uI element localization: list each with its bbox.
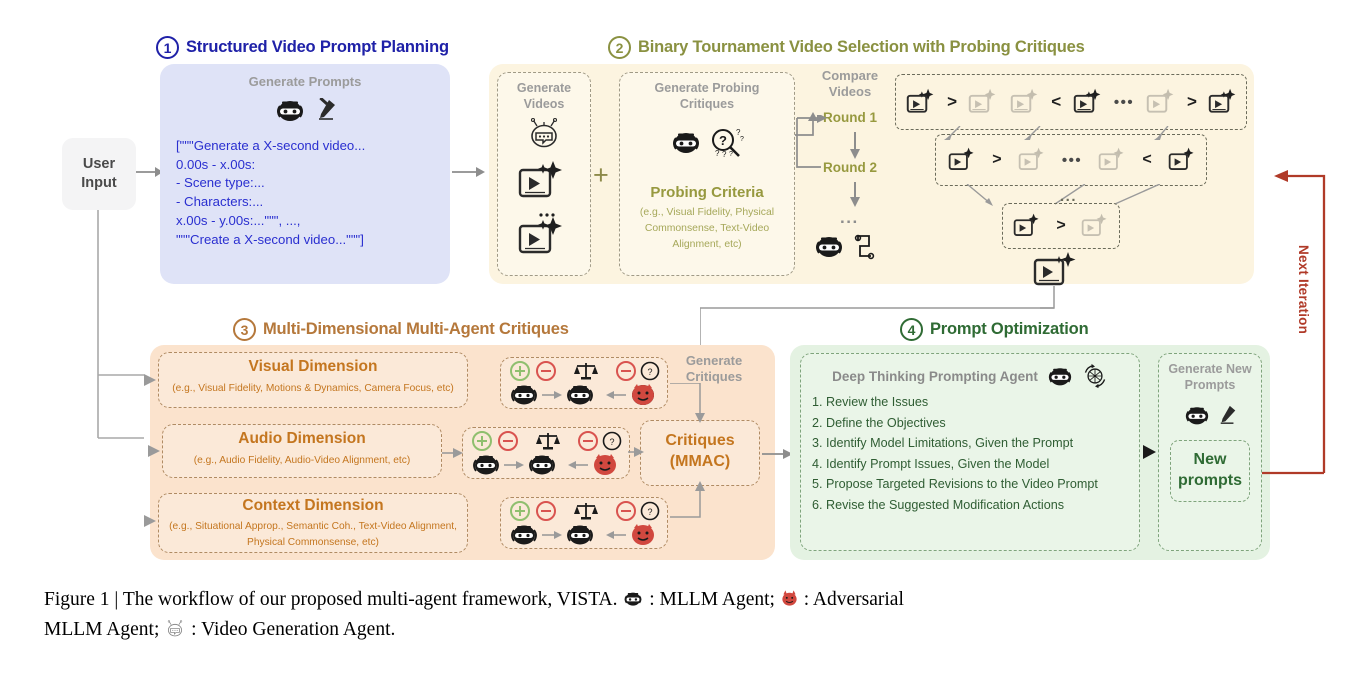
section-2-number: 2 [608,36,631,59]
new-prompts-line1: New [1170,450,1250,471]
prompt-text: ["""Generate a X-second video... 0.00s -… [176,137,438,249]
section-2-title: Binary Tournament Video Selection with P… [638,38,1085,57]
pencil-icon [316,98,338,122]
arrow-round1-to-round2 [846,132,864,160]
audio-dimension-title: Audio Dimension [162,430,442,448]
bracket-arrows-r1-r2 [920,126,1220,142]
compare-gt: > [1187,92,1197,112]
next-iteration-bottom [1262,468,1332,482]
round-loopback-connector [795,115,829,175]
video-clip-icon [1013,212,1041,240]
video-clip-icon [517,210,571,256]
generate-videos-label: Generate Videos [497,80,591,112]
video-clip-icon-faded [1098,146,1126,174]
video-clip-icon [1168,146,1196,174]
section-2-header: 2 Binary Tournament Video Selection with… [608,36,1085,59]
section-4-number: 4 [900,318,923,341]
caption-line-1: Figure 1 | The workflow of our proposed … [44,589,618,610]
winner-video-icon [1032,250,1086,288]
generate-new-prompts-label: Generate New Prompts [1158,361,1262,393]
next-iteration-label: Next Iteration [1296,245,1311,334]
svg-text:?: ? [609,437,614,447]
step-2: 2. Define the Objectives [812,413,1132,434]
mllm-agent-icon [622,589,644,608]
arrow-into-visual [140,372,160,388]
step-3: 3. Identify Model Limitations, Given the… [812,433,1132,454]
bracket-ellipsis: ••• [1062,152,1082,169]
step-4: 4. Identify Prompt Issues, Given the Mod… [812,454,1132,475]
svg-text:?: ? [647,367,652,377]
mllm-agent-icon [1045,364,1075,388]
video-clip-icon-faded [1010,87,1040,117]
bracket-ellipsis: ••• [1114,94,1134,111]
caption-video-gen-agent: : Video Generation Agent. [191,619,395,640]
video-gen-agent-icon [164,618,186,639]
loop-icon [852,232,878,260]
svg-text:?: ? [715,149,720,158]
visual-dimension-title: Visual Dimension [158,358,468,376]
arrow-audio-to-critique [442,445,466,461]
svg-text:?: ? [719,133,727,148]
arrow-round2-to-more [846,182,864,208]
probing-icons: ? ? ? ? ? ? [619,126,795,158]
arrow-into-context [140,513,160,529]
probing-criteria-sub: (e.g., Visual Fidelity, Physical Commons… [628,205,786,253]
figure-caption: Figure 1 | The workflow of our proposed … [44,585,1334,644]
video-clip-icon [517,158,571,200]
compare-lt: < [1051,92,1061,112]
mllm-agent-icon [1182,403,1212,427]
context-dimension-sub: (e.g., Situational Approp., Semantic Coh… [166,519,460,552]
user-input-label: User Input [81,155,116,193]
section-3-title: Multi-Dimensional Multi-Agent Critiques [263,320,569,339]
final-match: > [1006,207,1116,245]
section-1-title: Structured Video Prompt Planning [186,38,449,57]
round-1-matches: > < ••• > [900,78,1244,126]
section-4-title: Prompt Optimization [930,320,1088,339]
brain-loop-icon [1082,363,1108,389]
generate-prompts-icons [160,96,450,124]
svg-text:?: ? [740,136,744,143]
svg-text:?: ? [729,151,733,158]
new-prompts-icons [1158,403,1262,427]
caption-mllm-agent: : MLLM Agent; [649,589,775,610]
generate-critiques-label: Generate Critiques [664,353,764,386]
round-2-matches: > ••• < [940,138,1204,182]
step-1: 1. Review the Issues [812,392,1132,413]
video-gen-agent-icon [524,117,564,149]
svg-text:?: ? [722,150,727,158]
rounds-ellipsis: ... [840,208,859,228]
user-input-box[interactable]: User Input [62,138,136,210]
step-6: 6. Revise the Suggested Modification Act… [812,495,1132,516]
video-clip-icon [1073,87,1103,117]
tournament-agent-icons [812,232,878,260]
caption-adversarial: : Adversarial [804,589,904,610]
compare-gt: > [992,151,1001,169]
probing-criteria-title: Probing Criteria [619,184,795,201]
arrow-into-audio [144,443,164,459]
section-1-number: 1 [156,36,179,59]
optimization-steps: 1. Review the Issues 2. Define the Objec… [812,392,1132,515]
new-prompts-label: New prompts [1170,450,1250,492]
visual-dimension-sub: (e.g., Visual Fidelity, Motions & Dynami… [160,381,466,397]
video-clip-icon-faded [1146,87,1176,117]
connectors-to-mmac [628,383,758,523]
compare-gt: > [947,92,957,112]
mllm-agent-icon [669,128,703,156]
video-clip-icon-faded [1081,212,1109,240]
round-2-label: Round 2 [823,160,877,175]
compare-gt: > [1056,217,1065,235]
pencil-icon [1218,404,1238,426]
mllm-agent-icon [812,232,846,260]
audio-dimension-sub: (e.g., Audio Fidelity, Audio-Video Align… [164,453,440,469]
compare-lt: < [1142,151,1151,169]
new-prompts-line2: prompts [1170,471,1250,492]
video-clip-icon [1208,87,1238,117]
deep-thinking-header: Deep Thinking Prompting Agent [800,363,1140,389]
generate-probing-critiques-label: Generate Probing Critiques [619,80,795,112]
section-3-number: 3 [233,318,256,341]
caption-line-2: MLLM Agent; [44,619,159,640]
magnifier-question-icon: ? ? ? ? ? ? [709,126,745,158]
arrow-to-new-prompts [1140,443,1160,461]
section-1-header: 1 Structured Video Prompt Planning [156,36,449,59]
video-clip-icon [906,87,936,117]
video-clip-icon [948,146,976,174]
plus-sign: + [593,160,609,191]
deep-thinking-agent-label: Deep Thinking Prompting Agent [832,369,1038,384]
round-1-label: Round 1 [823,110,877,125]
section-4-header: 4 Prompt Optimization [900,318,1088,341]
mllm-agent-icon [273,96,307,124]
context-dimension-title: Context Dimension [158,497,468,515]
section-3-header: 3 Multi-Dimensional Multi-Agent Critique… [233,318,569,341]
generate-prompts-label: Generate Prompts [160,74,450,91]
step-5: 5. Propose Targeted Revisions to the Vid… [812,474,1132,495]
compare-videos-label: Compare Videos [808,68,892,101]
video-clip-icon-faded [968,87,998,117]
critique-icons-audio: ? [466,430,626,476]
arrow-plan-to-tournament [452,163,486,181]
adversarial-agent-icon [780,589,799,608]
video-clip-icon-faded [1018,146,1046,174]
